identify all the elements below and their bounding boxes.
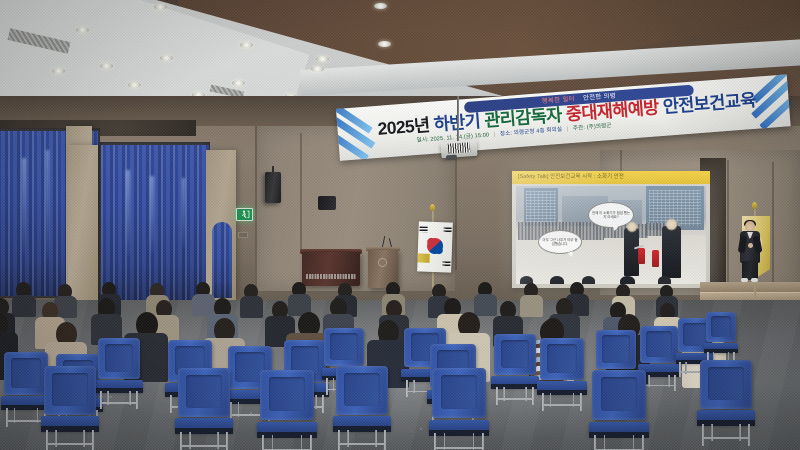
banner-host-value: (주)의령군 [587,123,612,131]
blue-chair-empty[interactable] [44,366,96,450]
presenter-shoe [751,278,758,282]
screen-foreground-silhouette [550,276,564,284]
blue-chair[interactable] [540,338,584,410]
blue-chair-empty[interactable] [336,366,388,450]
blue-chair[interactable] [98,338,140,408]
downlight-icon [232,80,245,86]
blue-chair[interactable] [4,352,48,426]
slide-header-bar: [Safety Talk] 안전보건교육 시작 : 소화기 안전 [512,171,710,184]
banner-place-value: 의령군청 4층 회의실 [514,127,563,137]
presenter-shoe [741,278,748,282]
presenter [738,221,762,283]
blue-chair[interactable] [494,334,536,404]
flagpole-finial [430,204,435,211]
blue-chair-empty[interactable] [178,368,230,450]
downlight-icon [128,82,141,88]
banner-title-year: 2025년 [377,115,430,139]
flag-gold-band [417,253,429,262]
wall-outlet [238,232,248,238]
building-windows [526,191,556,223]
speech-bubble-answer: 아무 그건 나무가 아무 점검했습니다. [538,230,582,254]
curtain-right-sliver [212,222,232,298]
downlight-icon [240,42,253,48]
downlight-icon [316,56,329,62]
downlight-icon [374,3,387,9]
trigram [443,227,451,233]
flagpole-finial [752,202,757,209]
demonstrator-head [627,222,637,232]
blue-chair-empty[interactable] [700,360,752,444]
banner-host-label: 주관 [573,125,584,132]
running-person-icon [240,210,250,219]
trigram [419,226,427,232]
fire-extinguisher [638,248,645,264]
blue-chair[interactable] [706,312,736,364]
downlight-icon [160,55,173,61]
curtain-light-leak [150,176,154,254]
taeguk-blue-lobe [435,246,443,254]
piano-keys [306,274,356,279]
fire-extinguisher [652,250,659,267]
wall-seam [772,162,774,287]
projector-lens-icon [446,155,457,161]
curtain-light-leak [126,170,130,256]
banner-datetime-label: 일시 [416,137,427,144]
downlight-icon [378,41,391,47]
auditorium-photo: 행복한 일터 안전한 의령 2025년 하반기 관리감독자 중대재해예방 안전보… [0,0,800,450]
wall-seam [727,160,729,285]
slide-photo: 언제 이 소화기가 점검 했는지 아세요? 아무 그건 나무가 아무 점검했습니… [516,186,706,284]
wall-speaker-icon [318,196,336,210]
podium-emblem [378,258,387,267]
blue-chair-empty[interactable] [432,368,486,450]
screen-foreground-silhouette [658,276,671,284]
pillar-center [68,145,98,300]
demonstrator-head [666,219,677,230]
presenter-hand [748,243,753,248]
blue-chair-empty[interactable] [592,370,646,450]
downlight-icon [100,63,113,69]
emergency-exit-sign [236,208,253,221]
screen-foreground-silhouette [620,276,635,284]
downlight-icon [154,4,167,10]
projection-screen: [Safety Talk] 안전보건교육 시작 : 소화기 안전 언제 이 소화… [512,171,710,288]
curtain-light-leak [46,150,49,260]
downlight-icon [76,27,89,33]
screen-foreground-silhouette [582,276,595,284]
demonstrator-right [662,226,681,278]
wall-seam [255,126,257,291]
projector-label-sticker [448,142,471,154]
downlight-icon [311,66,324,72]
korean-national-flag [417,221,453,272]
banner-place-label: 장소 [500,131,511,138]
wall-speaker-icon [265,172,281,203]
curtain-light-leak [22,158,26,254]
projector-mount-pole [457,96,459,144]
speech-bubble-tail [612,225,619,231]
wall-seam [300,133,302,253]
demonstrator-left [624,228,639,276]
blue-chair-empty[interactable] [260,370,314,450]
curtain-light-leak [182,178,185,248]
curtain-center [101,145,209,300]
trigram [442,261,450,267]
downlight-icon [52,68,65,74]
upright-piano [302,252,360,286]
